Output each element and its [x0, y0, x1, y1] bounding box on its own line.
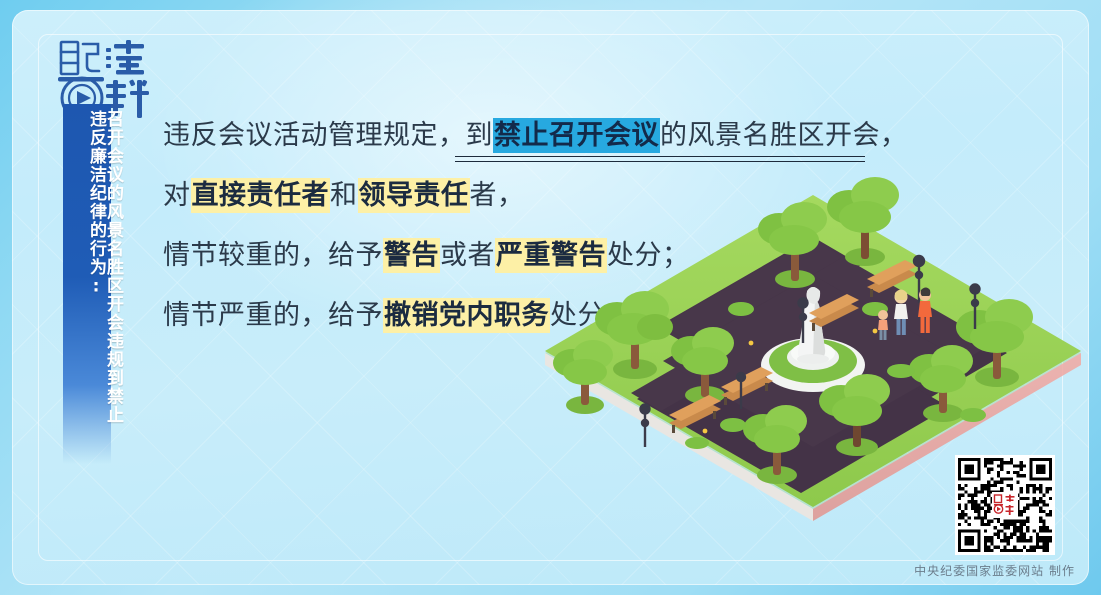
- line3-highlight-warning: 警告: [383, 238, 440, 273]
- line2-part2: 和: [330, 180, 358, 211]
- banner-column-right: 召开会议的风景名胜区开会违规到禁止: [104, 110, 121, 465]
- line1-suffix: 的风景名胜区开会，: [660, 120, 908, 151]
- qr-center-logo-svg: [993, 493, 1017, 517]
- vertical-banner: 召开会议的风景名胜区开会违规到禁止 违反廉洁纪律的行为:: [60, 110, 122, 465]
- line4-part1: 情节严重的，给予: [163, 300, 383, 331]
- line2-highlight-leadership-responsible: 领导责任: [358, 178, 470, 213]
- credit-text: 中央纪委国家监委网站 制作: [914, 562, 1075, 579]
- logo-char-fa: [106, 40, 144, 75]
- line1-highlight-prohibited-meeting: 禁止召开会议: [493, 118, 660, 153]
- poster-root: 召开会议的风景名胜区开会违规到禁止 违反廉洁纪律的行为: 违反会议活动管理规定，…: [0, 0, 1101, 595]
- line1-double-underline: [455, 156, 865, 162]
- line2-part1: 对: [163, 180, 191, 211]
- line2-highlight-direct-responsible: 直接责任者: [191, 178, 331, 213]
- line4-highlight-removal-of-post: 撤销党内职务: [383, 298, 550, 333]
- qr-code[interactable]: [955, 455, 1055, 555]
- line2-part3: 者，: [470, 180, 525, 211]
- logo-char-ji: [61, 42, 99, 74]
- body-line-1: 违反会议活动管理规定，到禁止召开会议的风景名胜区开会，: [163, 122, 883, 149]
- line3-part1: 情节较重的，给予: [163, 240, 383, 271]
- line3-part2: 或者: [440, 240, 495, 271]
- banner-column-left: 违反廉洁纪律的行为:: [87, 110, 104, 465]
- qr-center-logo: [992, 492, 1018, 518]
- line1-prefix: 违反会议活动管理规定，到: [163, 120, 493, 151]
